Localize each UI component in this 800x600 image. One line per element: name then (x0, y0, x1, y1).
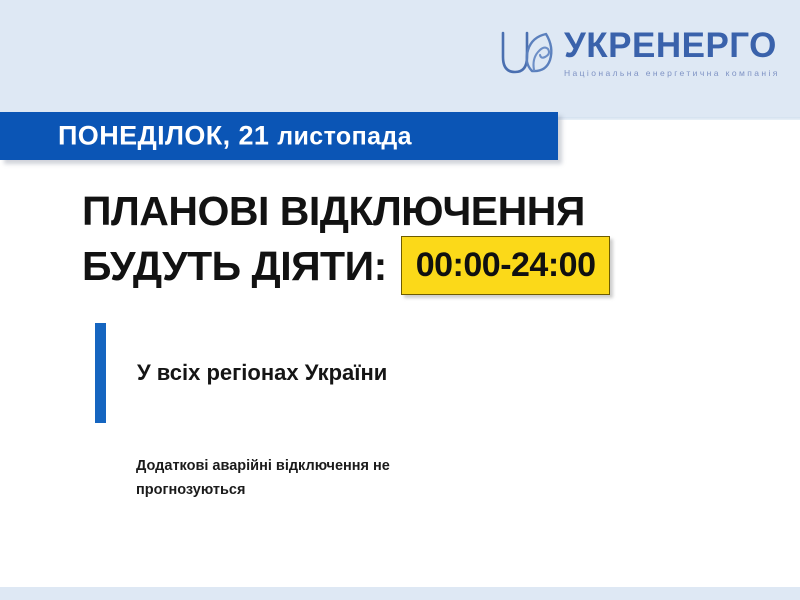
headline-line-2: БУДУТЬ ДІЯТИ: (82, 241, 387, 291)
footer-band (0, 587, 800, 600)
logo-wordmark: УКРЕНЕРГО (564, 28, 780, 64)
logo-text-block: УКРЕНЕРГО Національна енергетична компан… (564, 26, 780, 79)
ukrenergo-logo: УКРЕНЕРГО Національна енергетична компан… (498, 26, 768, 88)
headline-line-1: ПЛАНОВІ ВІДКЛЮЧЕННЯ (82, 186, 722, 236)
region-block: У всіх регіонах України (95, 323, 387, 423)
date-month: листопада (277, 123, 412, 151)
date-day: 21 (239, 121, 270, 151)
date-banner-label: ПОНЕДІЛОК, 21 листопада (58, 121, 412, 152)
headline-line-2-row: БУДУТЬ ДІЯТИ: 00:00-24:00 (82, 236, 722, 295)
emergency-outage-note: Додаткові аварійні відключення не прогно… (136, 454, 466, 502)
headline-block: ПЛАНОВІ ВІДКЛЮЧЕННЯ БУДУТЬ ДІЯТИ: 00:00-… (82, 186, 722, 295)
logo-tagline: Національна енергетична компанія (564, 67, 780, 79)
date-weekday: ПОНЕДІЛОК, (58, 121, 231, 151)
region-accent-bar (95, 323, 106, 423)
region-label: У всіх регіонах України (137, 360, 387, 386)
ukrenergo-leaf-logo-icon (498, 27, 560, 79)
date-banner: ПОНЕДІЛОК, 21 листопада (0, 112, 558, 160)
outage-time-badge: 00:00-24:00 (401, 236, 611, 295)
